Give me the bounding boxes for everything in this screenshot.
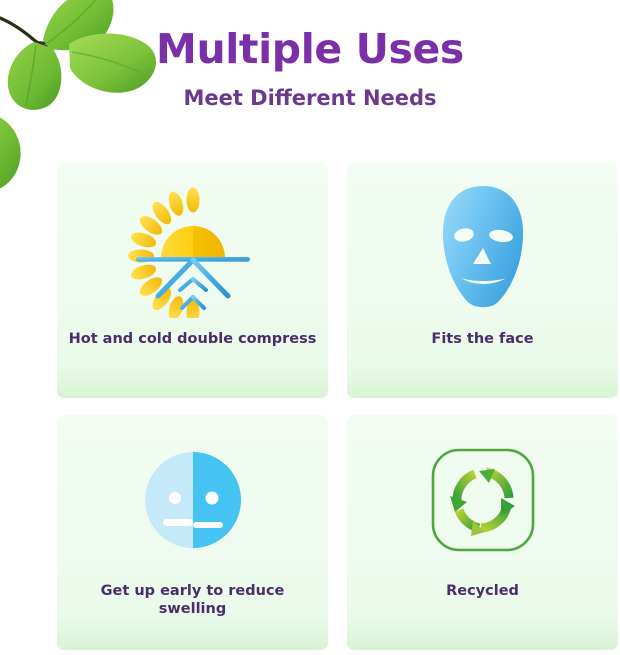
recycle-icon: [423, 429, 543, 571]
card-label-fits-face: Fits the face: [421, 330, 543, 348]
split-face-icon: [133, 429, 253, 571]
feature-card-reduce-swelling[interactable]: Get up early to reduce swelling: [57, 415, 328, 650]
card-label-hot-cold: Hot and cold double compress: [59, 330, 327, 348]
face-mask-icon: [428, 177, 538, 319]
feature-card-grid: Hot and cold double compress: [57, 163, 620, 650]
card-label-reduce-swelling: Get up early to reduce swelling: [57, 582, 328, 618]
header: Multiple Uses Meet Different Needs: [0, 0, 620, 111]
sun-snowflake-icon: [118, 177, 268, 319]
feature-card-recycled[interactable]: Recycled: [347, 415, 618, 650]
feature-card-hot-cold[interactable]: Hot and cold double compress: [57, 163, 328, 398]
page-title: Multiple Uses: [0, 0, 620, 73]
page-subtitle: Meet Different Needs: [0, 73, 620, 111]
feature-card-fits-face[interactable]: Fits the face: [347, 163, 618, 398]
card-label-recycled: Recycled: [436, 582, 529, 600]
